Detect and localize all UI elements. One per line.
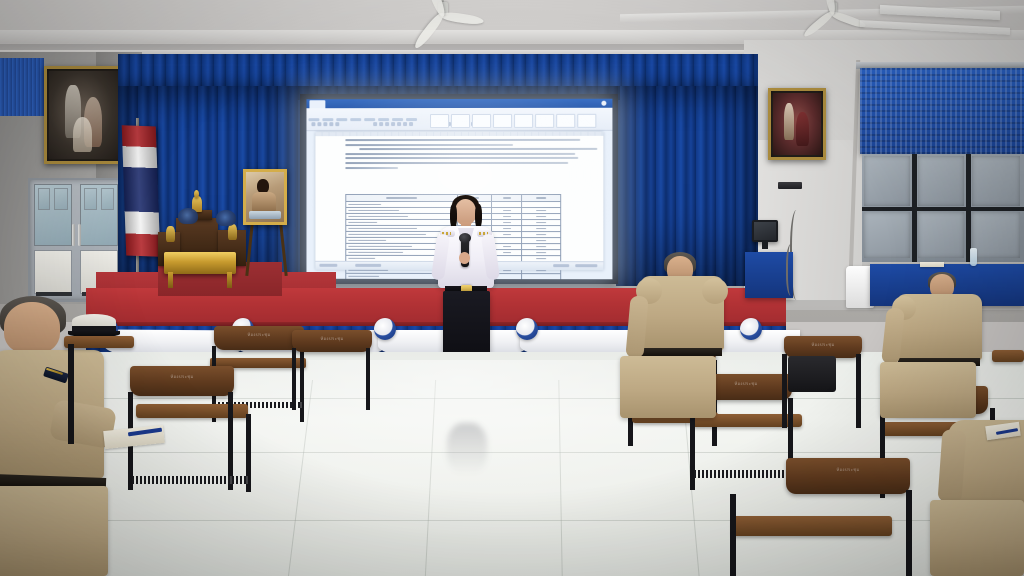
uniform-cap bbox=[72, 314, 116, 338]
flower-arrangement bbox=[216, 210, 236, 226]
ribbon-group-clipboard[interactable] bbox=[310, 114, 368, 127]
chair-back: ห้องประชุม bbox=[292, 330, 372, 352]
left-window-blind bbox=[0, 58, 44, 116]
tile-grout-line bbox=[0, 398, 1024, 399]
text-line bbox=[345, 139, 580, 141]
gold-offering-table bbox=[164, 252, 236, 274]
framed-royal-portrait-right bbox=[768, 88, 826, 160]
chair-leg bbox=[300, 346, 304, 422]
style-swatch[interactable] bbox=[493, 114, 512, 128]
window-pane bbox=[918, 212, 964, 258]
zoom-slider[interactable] bbox=[575, 264, 597, 267]
table-header-cell bbox=[522, 195, 561, 202]
text-line bbox=[345, 157, 578, 159]
drapery-rosette bbox=[516, 318, 538, 340]
water-bottle bbox=[970, 248, 977, 266]
window-pane bbox=[918, 156, 964, 206]
ribbon-icon bbox=[391, 122, 395, 126]
attendee-shoulder bbox=[702, 278, 728, 304]
ribbon-icon bbox=[403, 122, 407, 126]
chair-book-shelf bbox=[694, 470, 798, 478]
ribbon-icon bbox=[311, 122, 315, 126]
presenter-hair-side bbox=[450, 204, 457, 228]
portrait-canvas bbox=[773, 93, 821, 155]
ribbon-icon bbox=[317, 122, 321, 126]
drapery-rosette bbox=[374, 318, 396, 340]
portrait-canvas bbox=[49, 71, 121, 159]
style-swatch[interactable] bbox=[451, 114, 470, 128]
chair-back: ห้องประชุม bbox=[784, 336, 862, 358]
text-line bbox=[345, 153, 575, 155]
attendee-arm bbox=[938, 429, 967, 502]
attendee-belt bbox=[640, 348, 722, 356]
document-paragraphs bbox=[345, 139, 585, 171]
header-text bbox=[536, 197, 547, 199]
monitor-cable bbox=[786, 244, 798, 296]
ribbon-icon bbox=[329, 122, 333, 126]
chair-tablet-arm bbox=[732, 516, 892, 536]
ribbon-style-gallery[interactable] bbox=[430, 114, 612, 127]
document-ruler bbox=[315, 132, 603, 136]
drapery-rosette bbox=[740, 318, 762, 340]
ceiling-fan-icon bbox=[796, 2, 869, 28]
window-transom bbox=[862, 207, 1024, 211]
fan-blade bbox=[439, 11, 484, 26]
table-header-cell bbox=[492, 195, 522, 202]
flag-shading bbox=[122, 125, 161, 256]
gold-finial-top bbox=[194, 190, 199, 198]
tile-grout-line bbox=[0, 452, 1024, 453]
bag bbox=[788, 356, 836, 392]
portrait-head bbox=[257, 179, 268, 193]
style-swatch[interactable] bbox=[535, 114, 554, 128]
portrait-figure bbox=[796, 112, 808, 147]
header-text bbox=[503, 197, 511, 199]
chair-tablet-arm bbox=[992, 350, 1024, 362]
chair-leg bbox=[906, 490, 912, 576]
door-handle[interactable] bbox=[72, 224, 75, 246]
computer-monitor[interactable] bbox=[752, 220, 778, 242]
attendee-legs bbox=[880, 362, 976, 418]
text-line bbox=[345, 162, 568, 164]
ceiling-fan-icon bbox=[400, 2, 486, 32]
chair-leg bbox=[730, 494, 736, 576]
portrait-base bbox=[249, 211, 281, 219]
ribbon-icon bbox=[385, 122, 389, 126]
status-text bbox=[355, 264, 381, 267]
portrait-body bbox=[252, 192, 276, 212]
header-text bbox=[386, 197, 417, 199]
window-pane bbox=[972, 156, 1020, 206]
attendee-legs bbox=[930, 500, 1024, 576]
style-swatch[interactable] bbox=[472, 114, 491, 128]
door-kickplate bbox=[36, 292, 72, 296]
chair-leg bbox=[366, 348, 370, 410]
portrait-figure bbox=[784, 103, 795, 140]
table-leg bbox=[168, 272, 173, 288]
presenter-hand bbox=[459, 252, 470, 264]
window-blind[interactable] bbox=[860, 68, 1024, 154]
wall-plate bbox=[778, 182, 802, 189]
chair-leg bbox=[782, 354, 787, 428]
chair-tablet-arm bbox=[64, 336, 134, 348]
easel-royal-portrait bbox=[243, 169, 287, 225]
chair-stencil-text: ห้องประชุม bbox=[792, 342, 854, 348]
word-ribbon[interactable] bbox=[306, 108, 612, 131]
window-pane bbox=[864, 212, 910, 258]
monitor-screen bbox=[754, 222, 776, 240]
chair-back: ห้องประชุม bbox=[214, 326, 304, 350]
style-swatch[interactable] bbox=[514, 114, 533, 128]
door-glass-pane bbox=[84, 188, 97, 210]
chair-stencil-text: ห้องประชุม bbox=[300, 336, 364, 342]
paper-document bbox=[920, 262, 944, 267]
table-leg bbox=[227, 272, 232, 288]
text-line bbox=[345, 144, 513, 146]
chair-stencil-text: ห้องประชุม bbox=[709, 381, 783, 387]
chair-stencil-text: ห้องประชุม bbox=[223, 332, 295, 338]
ribbon-group-font[interactable] bbox=[372, 114, 436, 127]
door-lower-panel bbox=[34, 250, 72, 294]
chair-leg bbox=[292, 348, 296, 410]
chair-book-shelf bbox=[132, 476, 248, 484]
ribbon-icon bbox=[323, 122, 327, 126]
presenter-hair-side bbox=[475, 204, 482, 228]
door-handle[interactable] bbox=[78, 224, 81, 246]
window-pane bbox=[972, 212, 1020, 258]
door-glass-pane bbox=[54, 188, 68, 210]
gold-urn bbox=[228, 224, 237, 240]
ribbon-icon bbox=[397, 122, 401, 126]
attendee-head bbox=[4, 302, 60, 354]
ribbon-tab-row[interactable] bbox=[308, 108, 612, 113]
window-pane bbox=[864, 156, 910, 206]
attendee-legs bbox=[620, 356, 716, 418]
presenter-floor-reflection bbox=[447, 423, 487, 475]
window-control-icon[interactable] bbox=[601, 101, 606, 106]
ribbon-icon bbox=[379, 122, 383, 126]
portrait-figure bbox=[73, 117, 92, 152]
chair-back: ห้องประชุม bbox=[130, 366, 234, 396]
microphone-head-icon bbox=[459, 233, 471, 243]
framed-royal-portrait-left bbox=[44, 66, 126, 164]
ribbon-icon bbox=[373, 122, 377, 126]
chair-stencil-text: ห้องประชุม bbox=[140, 374, 223, 380]
door-glass-pane bbox=[101, 188, 114, 210]
word-title-bar bbox=[306, 99, 612, 109]
chair-back: ห้องประชุม bbox=[786, 458, 910, 494]
status-text bbox=[319, 264, 337, 267]
table-header-cell bbox=[346, 194, 458, 201]
text-line bbox=[360, 148, 598, 150]
chair-leg bbox=[68, 344, 74, 444]
zoom-control[interactable] bbox=[553, 264, 569, 267]
attendee-legs bbox=[0, 486, 108, 576]
flower-arrangement bbox=[178, 208, 198, 224]
style-swatch[interactable] bbox=[577, 114, 596, 128]
ribbon-icon bbox=[409, 122, 413, 126]
monitor-stand bbox=[762, 242, 767, 249]
style-swatch[interactable] bbox=[430, 114, 449, 128]
window-grid bbox=[862, 154, 1024, 262]
ribbon-icon bbox=[335, 122, 339, 126]
chair-stencil-text: ห้องประชุม bbox=[798, 467, 897, 473]
gold-urn bbox=[166, 226, 175, 242]
door-glass-pane bbox=[38, 188, 50, 210]
conference-hall-photo: ห้องประชุม ห้องประชุม ห้องประชุม ห้องประ… bbox=[0, 0, 1024, 576]
word-document-tab[interactable] bbox=[309, 100, 325, 108]
chair-leg bbox=[856, 354, 861, 428]
text-line bbox=[345, 167, 398, 169]
style-swatch[interactable] bbox=[556, 114, 575, 128]
